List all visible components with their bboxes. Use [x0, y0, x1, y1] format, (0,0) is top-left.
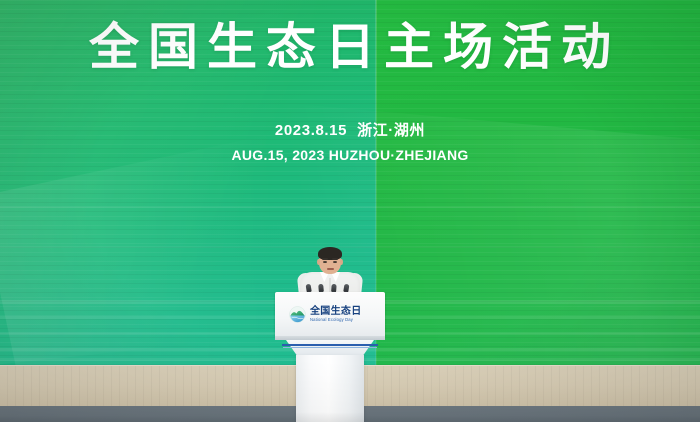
speaker-eyebrow-left [322, 258, 328, 260]
lectern-blue-trim-stripe [282, 344, 378, 346]
speaker-eye-right [333, 261, 337, 263]
event-date-cn: 2023.8.15 [275, 122, 347, 139]
lectern-logo-title-en: National Ecology Day [310, 318, 362, 322]
lectern-column [296, 355, 364, 422]
event-title: 全国生态日主场活动 [0, 19, 700, 75]
mountain-water-circle-emblem-icon [289, 306, 306, 323]
lectern-panel-edge [275, 336, 385, 340]
event-subtitle-chinese: 2023.8.15浙江·湖州 [0, 121, 700, 140]
speaker-eye-left [323, 261, 327, 263]
stage-photo: 全国生态日主场活动 2023.8.15浙江·湖州 AUG.15, 2023 HU… [0, 0, 700, 422]
speaker-eyebrow-right [332, 258, 338, 260]
speaker-ear-right [340, 259, 343, 265]
lectern: 全国生态日 National Ecology Day [272, 292, 388, 422]
lectern-logo: 全国生态日 National Ecology Day [289, 306, 362, 323]
lectern-front-panel: 全国生态日 National Ecology Day [275, 292, 385, 336]
speaker-ear-left [317, 259, 320, 265]
event-place-cn: 浙江·湖州 [357, 122, 425, 139]
lectern-logo-title-cn: 全国生态日 [310, 307, 362, 317]
lectern-light-trim-stripe [283, 347, 377, 348]
event-subtitle-english: AUG.15, 2023 HUZHOU·ZHEJIANG [0, 146, 700, 164]
lectern-logo-text: 全国生态日 National Ecology Day [310, 307, 362, 323]
